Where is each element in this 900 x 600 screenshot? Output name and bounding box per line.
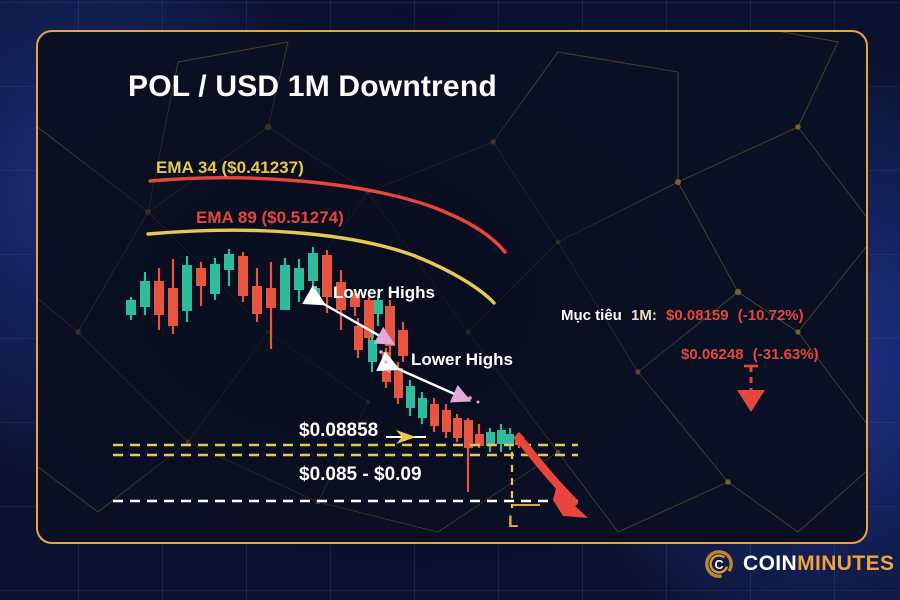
target-label-prefix: Mục tiêu [561, 307, 622, 324]
target-secondary-price: $0.06248 [681, 346, 744, 363]
target-primary-change: (-10.72%) [738, 307, 804, 324]
brand-logo: C COINMINUTES [704, 549, 894, 579]
ema-89-label: EMA 89 ($0.51274) [196, 208, 344, 228]
lower-highs-label-1: Lower Highs [333, 283, 435, 303]
brand-name-part2: MINUTES [797, 552, 894, 575]
breakdown-marker-label: L [508, 512, 518, 532]
target-secondary-row: $0.06248 (-31.63%) [681, 346, 819, 363]
brand-name-part1: COIN [743, 552, 797, 575]
breakdown-arrow-shaft [523, 443, 574, 502]
screenshot-root: POL / USD 1M Downtrend EMA 34 ($0.41237)… [0, 0, 900, 600]
target-primary-row: Mục tiêu 1M: $0.08159 (-10.72%) [561, 307, 809, 324]
svg-text:C: C [714, 558, 723, 572]
ema-34-label: EMA 34 ($0.41237) [156, 158, 304, 178]
coinminutes-mark-icon: C [704, 549, 734, 579]
brand-name: COINMINUTES [743, 552, 894, 576]
target-secondary-change: (-31.63%) [753, 346, 819, 363]
price-range-label: $0.085 - $0.09 [299, 464, 422, 486]
lower-highs-label-2: Lower Highs [411, 350, 513, 370]
target-arrow-head-icon [737, 390, 765, 412]
target-timeframe: 1M: [631, 307, 657, 324]
page-title: POL / USD 1M Downtrend [128, 70, 497, 104]
breakdown-arrow-head-icon [553, 488, 588, 518]
target-primary-price: $0.08159 [666, 307, 729, 324]
price-level-label: $0.08858 [299, 420, 378, 442]
